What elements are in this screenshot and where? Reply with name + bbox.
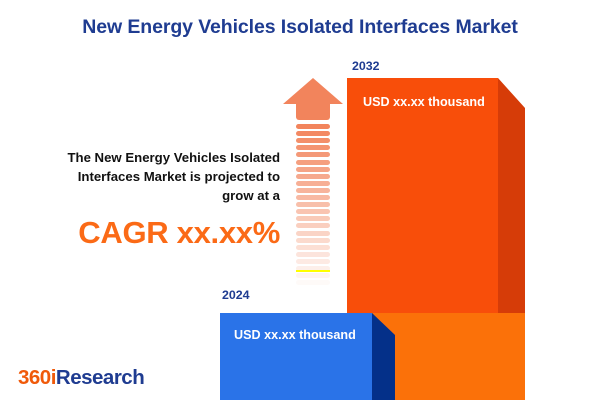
bar-label-2032: 2032	[352, 59, 380, 73]
arrow-stripe	[296, 259, 330, 264]
arrow-stripe	[296, 188, 330, 193]
arrow-stripe	[296, 280, 330, 285]
arrow-stripe	[296, 273, 330, 278]
arrow-stripe	[296, 245, 330, 250]
company-logo[interactable]: 360iResearch	[18, 366, 144, 390]
arrow-stripe	[296, 209, 330, 214]
logo-research: Research	[56, 366, 144, 389]
arrow-stripe	[296, 195, 330, 200]
market-growth-infographic: New Energy Vehicles Isolated Interfaces …	[0, 0, 600, 400]
bar-2032[interactable]	[347, 78, 498, 313]
growth-statement: The New Energy Vehicles Isolated Interfa…	[22, 148, 280, 251]
arrow-stripe	[296, 252, 330, 257]
up-arrow-icon	[283, 78, 343, 290]
arrow-neck	[296, 108, 330, 120]
logo-360: 360	[18, 366, 51, 389]
statement-line-2: Interfaces Market is projected to	[22, 167, 280, 186]
arrow-stripe	[296, 131, 330, 136]
bar-2024-value: USD xx.xx thousand	[234, 328, 356, 342]
arrow-stripe	[296, 167, 330, 172]
arrow-stripe	[296, 174, 330, 179]
arrow-stripe	[296, 238, 330, 243]
arrow-stripe	[296, 287, 330, 292]
arrow-stripe	[296, 160, 330, 165]
bar-2032-value: USD xx.xx thousand	[363, 95, 485, 109]
arrow-stripe	[296, 231, 330, 236]
statement-line-3: grow at a	[22, 186, 280, 205]
bar-2024[interactable]	[220, 313, 372, 400]
statement-line-1: The New Energy Vehicles Isolated	[22, 148, 280, 167]
cagr-value: CAGR xx.xx%	[22, 215, 280, 251]
arrow-stripe	[296, 181, 330, 186]
arrow-stripe	[296, 152, 330, 157]
page-title: New Energy Vehicles Isolated Interfaces …	[0, 16, 600, 39]
arrow-highlight-line	[296, 270, 330, 272]
arrow-stripe	[296, 202, 330, 207]
arrow-stripe	[296, 223, 330, 228]
arrow-stripe	[296, 138, 330, 143]
arrow-head-icon	[283, 78, 343, 110]
bar-label-2024: 2024	[222, 288, 250, 302]
arrow-stripe	[296, 124, 330, 129]
arrow-stripe	[296, 145, 330, 150]
bar-2032-side-face	[498, 78, 525, 313]
arrow-stripe	[296, 216, 330, 221]
